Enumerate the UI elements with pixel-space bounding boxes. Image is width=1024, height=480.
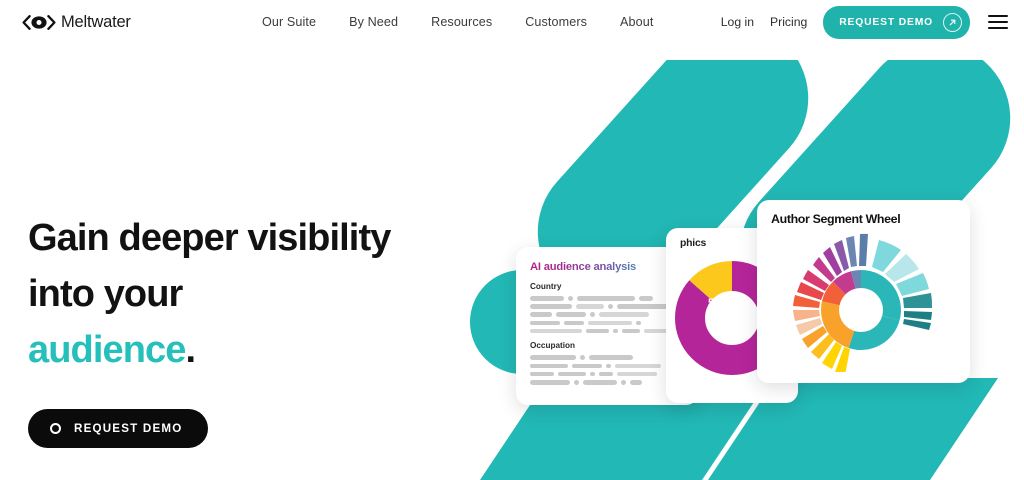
brand-logo-link[interactable]: Meltwater xyxy=(22,13,131,32)
meltwater-eye-logo-icon xyxy=(22,15,56,30)
headline-accent-word: audience xyxy=(28,329,186,371)
pricing-link[interactable]: Pricing xyxy=(770,15,807,29)
ai-card-section-label-country: Country xyxy=(530,282,684,291)
skeleton-row xyxy=(530,296,684,301)
card-author-segment-wheel[interactable]: Author Segment Wheel xyxy=(757,200,970,383)
skeleton-row xyxy=(530,372,684,377)
request-demo-hero-label: REQUEST DEMO xyxy=(74,422,182,435)
headline-period: . xyxy=(186,329,196,371)
brand-name: Meltwater xyxy=(61,13,131,32)
nav-actions: Log in Pricing REQUEST DEMO xyxy=(721,0,1008,44)
login-link[interactable]: Log in xyxy=(721,15,754,29)
page-title: Gain deeper visibility into your audienc… xyxy=(28,210,468,379)
hamburger-menu-icon[interactable] xyxy=(988,15,1008,30)
top-navigation-bar: Meltwater Our Suite By Need Resources Cu… xyxy=(0,0,1024,44)
skeleton-row xyxy=(530,329,684,334)
hero-text-block: Gain deeper visibility into your audienc… xyxy=(28,210,468,448)
headline-line-2: into your xyxy=(28,273,182,315)
circle-dot-icon xyxy=(50,423,61,434)
primary-nav-links: Our Suite By Need Resources Customers Ab… xyxy=(262,0,653,44)
nav-link-by-need[interactable]: By Need xyxy=(349,15,398,29)
skeleton-row xyxy=(530,312,684,317)
skeleton-row xyxy=(530,380,684,385)
donut-center-percent-label: 56% xyxy=(708,297,730,309)
nav-link-customers[interactable]: Customers xyxy=(525,15,587,29)
ai-card-section-label-occupation: Occupation xyxy=(530,341,684,350)
headline-line-1: Gain deeper visibility xyxy=(28,217,390,259)
nav-link-about[interactable]: About xyxy=(620,15,653,29)
page-root: Meltwater Our Suite By Need Resources Cu… xyxy=(0,0,1024,480)
request-demo-hero-button[interactable]: REQUEST DEMO xyxy=(28,409,208,448)
skeleton-row xyxy=(530,364,684,369)
nav-link-resources[interactable]: Resources xyxy=(431,15,492,29)
hero-illustration: AI audience analysis Country xyxy=(470,60,1024,480)
skeleton-row xyxy=(530,304,684,309)
skeleton-row xyxy=(530,321,684,326)
arrow-up-right-icon xyxy=(943,13,962,32)
request-demo-nav-label: REQUEST DEMO xyxy=(839,17,933,28)
nav-link-our-suite[interactable]: Our Suite xyxy=(262,15,316,29)
request-demo-nav-button[interactable]: REQUEST DEMO xyxy=(823,6,970,39)
skeleton-row xyxy=(530,355,684,360)
skeleton-group-occupation xyxy=(530,355,684,384)
ai-card-title: AI audience analysis xyxy=(530,261,684,273)
skeleton-group-country xyxy=(530,296,684,333)
